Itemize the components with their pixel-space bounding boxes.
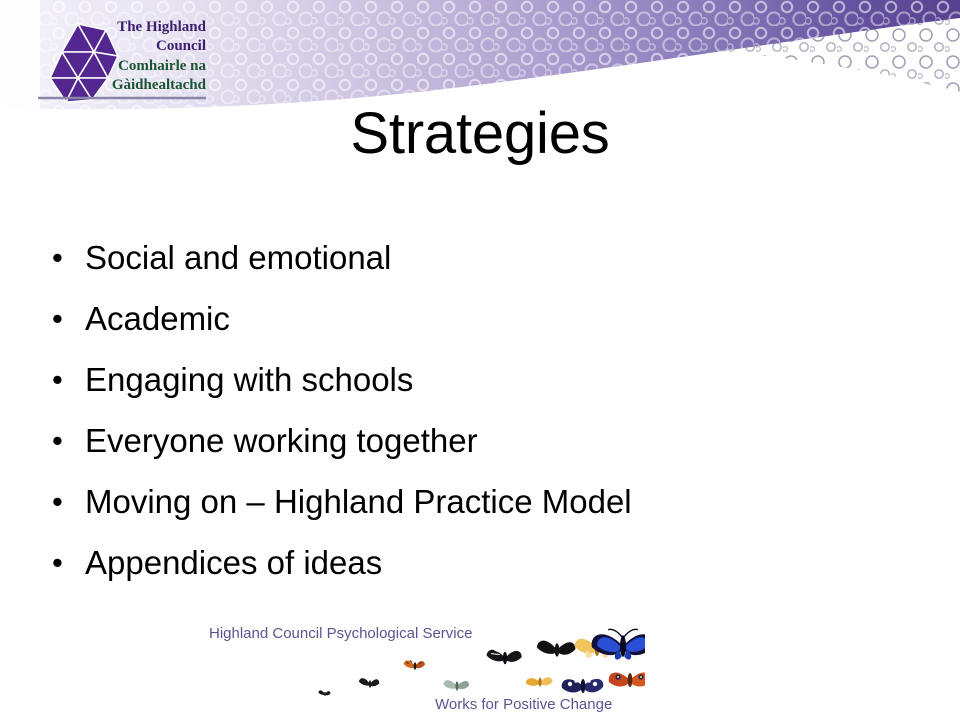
bullet-icon: • [52, 416, 85, 466]
list-item: • Academic [52, 294, 912, 355]
list-item: • Appendices of ideas [52, 538, 912, 599]
bullet-icon: • [52, 477, 85, 527]
psychological-service-logo: Highland Council Psychological Service W… [205, 618, 645, 718]
page-title: Strategies [0, 104, 960, 165]
banner-left-fade [0, 0, 40, 120]
highland-council-logo: The Highland Council Comhairle na Gàidhe… [36, 14, 208, 104]
butterfly-icon-1-silhouette [318, 690, 330, 696]
slide-canvas: The Highland Council Comhairle na Gàidhe… [0, 0, 960, 720]
council-logo-line2: Council [156, 38, 206, 54]
council-diamond-mark [50, 24, 118, 102]
bullet-icon: • [52, 294, 85, 344]
butterfly-icon-3-orange [404, 660, 425, 669]
butterfly-icon-4-sage [443, 680, 469, 690]
butterfly-icon-6-black [537, 641, 576, 657]
bullet-icon: • [52, 233, 85, 283]
list-item-label: Engaging with schools [85, 355, 413, 405]
butterfly-icon-9-navy [562, 679, 604, 693]
list-item-label: Academic [85, 294, 230, 344]
ps-logo-top-text: Highland Council Psychological Service [209, 625, 472, 642]
list-item: • Moving on – Highland Practice Model [52, 477, 912, 538]
list-item: • Social and emotional [52, 233, 912, 294]
list-item-label: Everyone working together [85, 416, 478, 466]
butterfly-icon-5-silhouette [487, 650, 522, 664]
list-item: • Engaging with schools [52, 355, 912, 416]
strategies-bullet-list: • Social and emotional • Academic • Enga… [52, 233, 912, 599]
ps-logo-bottom-text: Works for Positive Change [435, 696, 612, 713]
bullet-icon: • [52, 538, 85, 588]
list-item-label: Social and emotional [85, 233, 391, 283]
butterfly-icon-2-silhouette [359, 678, 379, 688]
butterfly-icon-7-gold [526, 677, 553, 686]
butterfly-icon-10-red [609, 672, 645, 687]
butterfly-icon-11-blue-large [592, 629, 645, 659]
list-item: • Everyone working together [52, 416, 912, 477]
council-logo-line3: Comhairle na [118, 58, 206, 74]
council-logo-line4: Gàidhealtachd [112, 77, 207, 93]
list-item-label: Moving on – Highland Practice Model [85, 477, 632, 527]
council-logo-line1: The Highland [117, 19, 206, 35]
bullet-icon: • [52, 355, 85, 405]
list-item-label: Appendices of ideas [85, 538, 382, 588]
